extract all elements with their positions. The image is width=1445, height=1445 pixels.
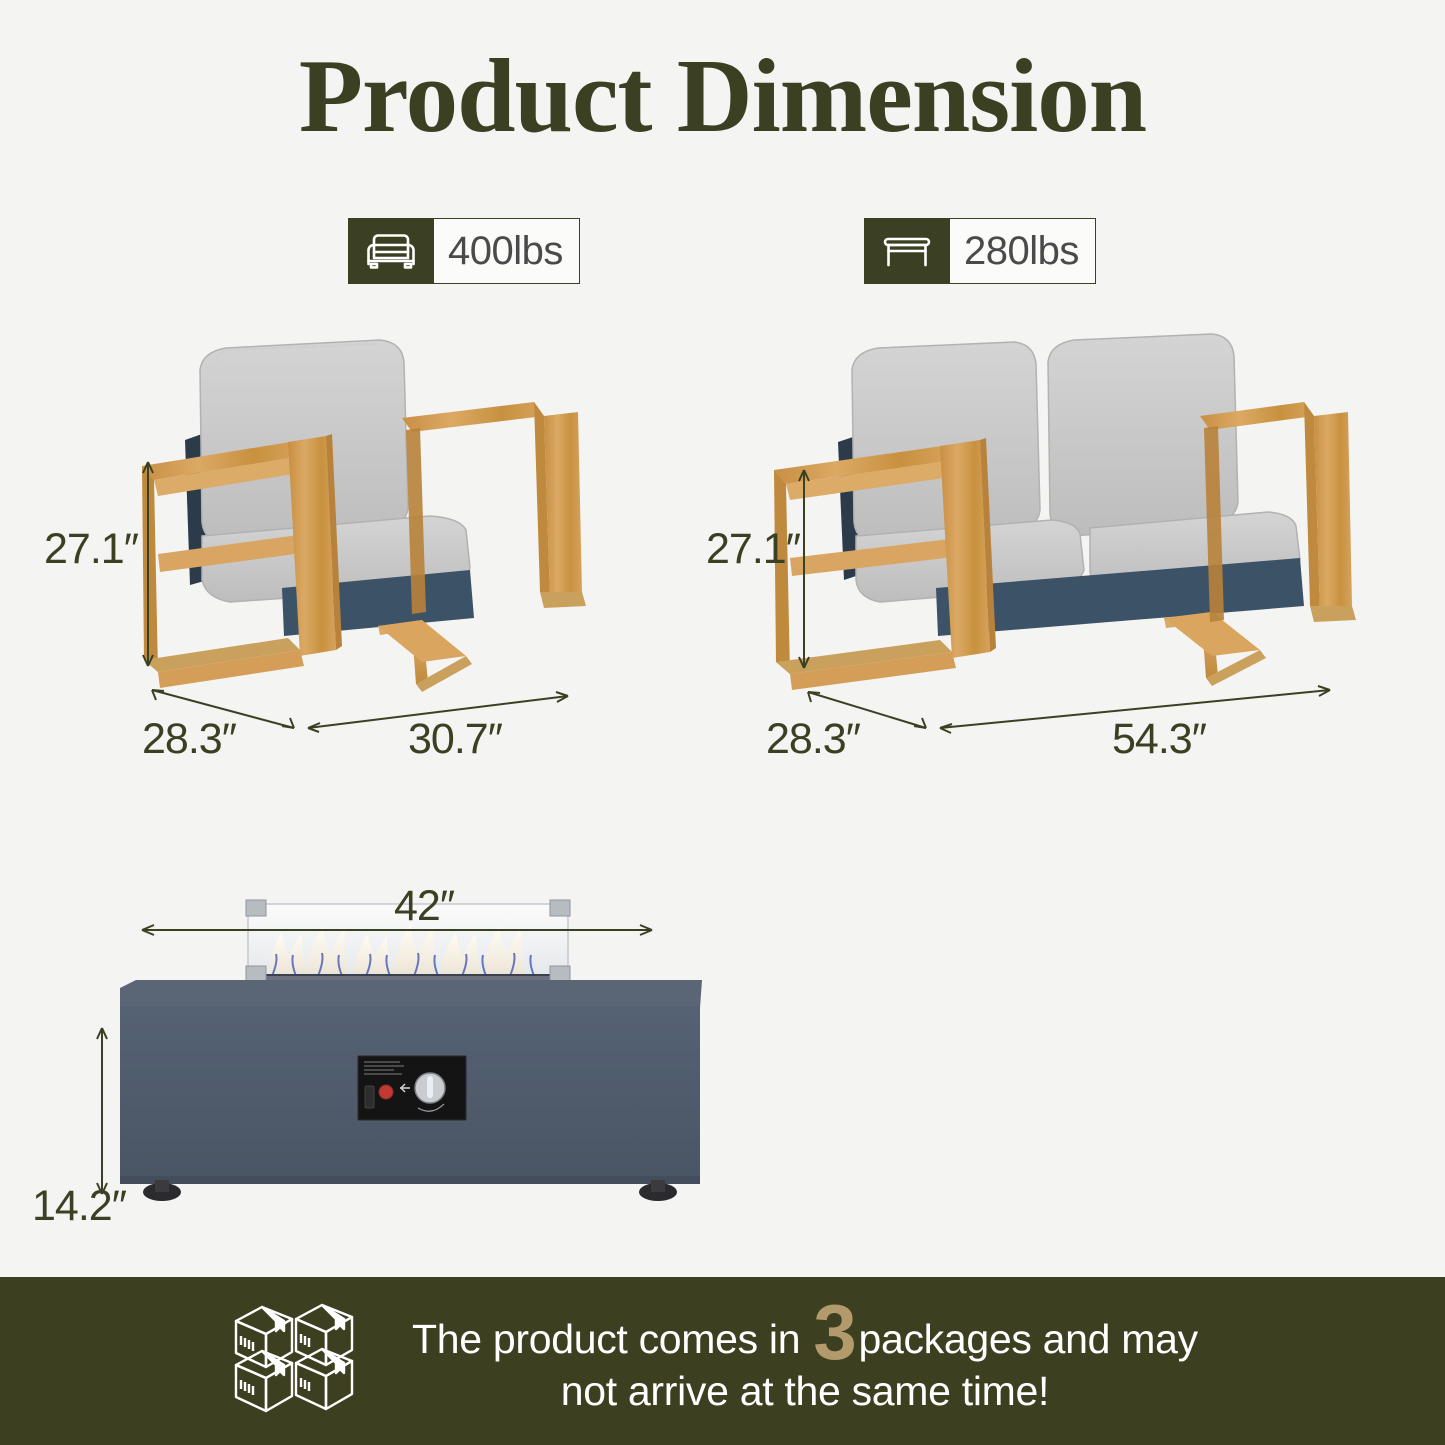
shipping-banner-text: The product comes in 3packages and may n…	[412, 1305, 1198, 1417]
loveseat-dimension-lines	[782, 440, 1352, 740]
table-icon-container	[864, 218, 950, 284]
table-capacity-value-box: 280lbs	[950, 218, 1096, 284]
fire-pit-width-label: 42″	[394, 885, 454, 928]
capacity-badge-sofa: 400lbs	[348, 218, 580, 284]
sofa-capacity-value: 400lbs	[448, 231, 563, 271]
armchair-depth-label: 28.3″	[142, 718, 236, 761]
sofa-icon-container	[348, 218, 434, 284]
packages-icon	[218, 1291, 368, 1431]
loveseat-width-label: 54.3″	[1112, 718, 1206, 761]
armchair-height-label: 27.1″	[44, 528, 138, 571]
banner-text-after: packages and may	[858, 1316, 1197, 1362]
table-capacity-value: 280lbs	[964, 231, 1079, 271]
table-icon	[879, 231, 935, 271]
shipping-banner: The product comes in 3packages and may n…	[0, 1277, 1445, 1445]
loveseat-height-label: 27.1″	[706, 528, 800, 571]
page-title: Product Dimension	[0, 38, 1445, 154]
armchair-dimension-lines	[122, 440, 582, 740]
armchair-width-label: 30.7″	[408, 718, 502, 761]
fire-pit-height-label: 14.2″	[32, 1185, 126, 1228]
banner-package-count: 3	[811, 1288, 858, 1376]
fire-pit-dimension-lines	[90, 900, 670, 1240]
banner-text-before: The product comes in	[412, 1316, 800, 1362]
loveseat-depth-label: 28.3″	[766, 718, 860, 761]
sofa-capacity-value-box: 400lbs	[434, 218, 580, 284]
capacity-badge-table: 280lbs	[864, 218, 1096, 284]
banner-text-line2: not arrive at the same time!	[561, 1368, 1049, 1414]
sofa-icon	[363, 231, 419, 271]
